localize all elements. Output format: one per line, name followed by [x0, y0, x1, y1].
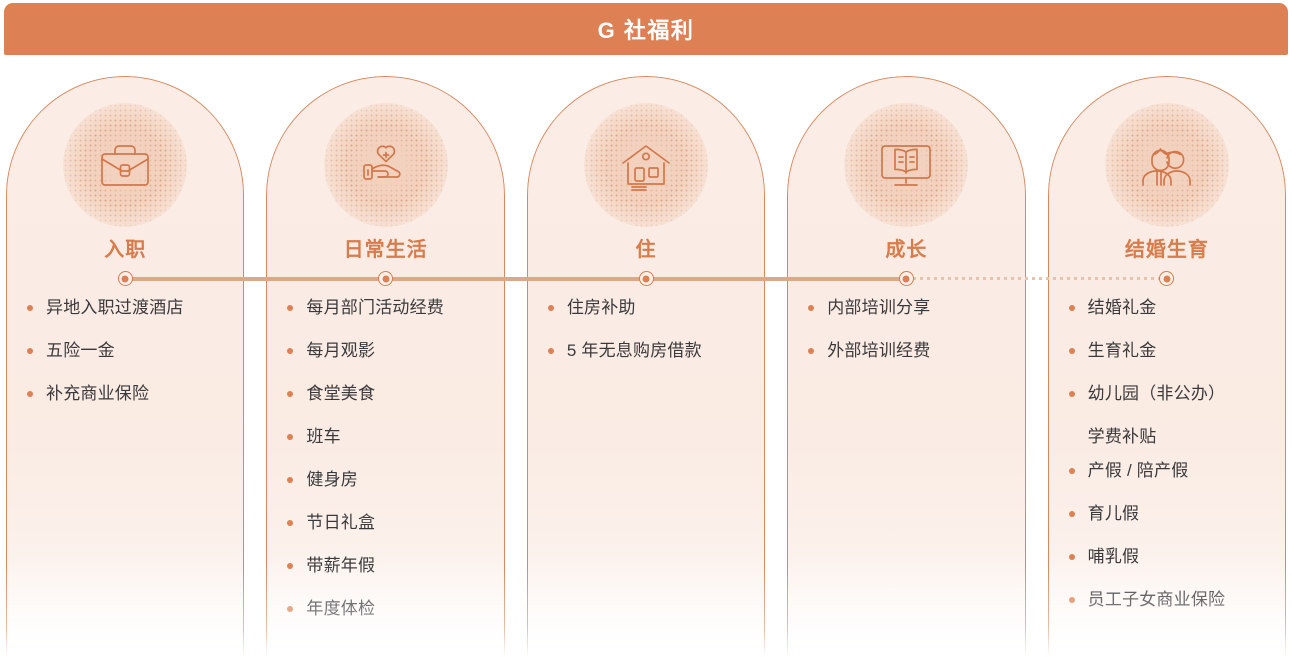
benefit-text: 每月观影 [306, 340, 489, 362]
benefit-text: 哺乳假 [1088, 546, 1271, 568]
list-item: 健身房 [283, 469, 489, 512]
benefit-text: 员工子女商业保险 [1088, 589, 1271, 611]
benefit-card-daily-life[interactable]: 日常生活每月部门活动经费每月观影食堂美食班车健身房节日礼盒带薪年假年度体检 [266, 76, 504, 657]
bullet-dot-icon [1069, 391, 1075, 397]
list-item: 哺乳假 [1065, 546, 1271, 589]
bullet-dot-icon [1069, 468, 1075, 474]
list-item: 年度体检 [283, 598, 489, 641]
list-item: 育儿假 [1065, 503, 1271, 546]
monitor-book-icon [876, 135, 936, 195]
card-title: 日常生活 [267, 233, 503, 262]
bullet-dot-icon [1069, 511, 1075, 517]
icon-medallion [1105, 103, 1229, 227]
briefcase-icon [95, 135, 155, 195]
bullet-dot-icon [1069, 305, 1075, 311]
benefit-list: 每月部门活动经费每月观影食堂美食班车健身房节日礼盒带薪年假年度体检 [267, 297, 503, 641]
list-item: 每月部门活动经费 [283, 297, 489, 340]
list-item: 节日礼盒 [283, 512, 489, 555]
list-item: 结婚礼金 [1065, 297, 1271, 340]
benefit-card-onboarding[interactable]: 入职异地入职过渡酒店五险一金补充商业保险 [6, 76, 244, 657]
couple-icon [1137, 135, 1197, 195]
list-item: 五险一金 [23, 340, 229, 383]
list-item: 带薪年假 [283, 555, 489, 598]
benefit-text: 住房补助 [567, 297, 750, 319]
bullet-dot-icon [548, 305, 554, 311]
benefit-text: 补充商业保险 [46, 383, 229, 405]
benefit-text: 幼儿园（非公办） [1088, 383, 1271, 405]
card-title: 入职 [7, 233, 243, 262]
benefit-card-growth[interactable]: 成长内部培训分享外部培训经费 [787, 76, 1025, 657]
benefit-text: 节日礼盒 [306, 512, 489, 534]
list-item: 员工子女商业保险 [1065, 589, 1271, 632]
bullet-dot-icon [287, 563, 293, 569]
bullet-dot-icon [27, 391, 33, 397]
bullet-dot-icon [287, 305, 293, 311]
bullet-dot-icon [548, 348, 554, 354]
bullet-dot-icon [1069, 554, 1075, 560]
list-item: 异地入职过渡酒店 [23, 297, 229, 340]
list-item: 学费补贴 [1065, 426, 1271, 460]
page-title: G 社福利 [598, 13, 695, 45]
list-item: 内部培训分享 [804, 297, 1010, 340]
benefit-text: 健身房 [306, 469, 489, 491]
benefit-list: 异地入职过渡酒店五险一金补充商业保险 [7, 297, 243, 426]
benefit-list: 内部培训分享外部培训经费 [788, 297, 1024, 383]
benefit-text: 内部培训分享 [827, 297, 1010, 319]
bullet-dot-icon [287, 606, 293, 612]
bullet-dot-icon [287, 520, 293, 526]
benefit-text: 育儿假 [1088, 503, 1271, 525]
benefit-text: 每月部门活动经费 [306, 297, 489, 319]
list-item: 产假 / 陪产假 [1065, 460, 1271, 503]
list-item: 班车 [283, 426, 489, 469]
benefit-list: 住房补助5 年无息购房借款 [528, 297, 764, 383]
list-item: 生育礼金 [1065, 340, 1271, 383]
bullet-dot-icon [1069, 348, 1075, 354]
bullet-dot-icon [27, 305, 33, 311]
card-title: 住 [528, 233, 764, 262]
benefit-text: 学费补贴 [1088, 426, 1271, 448]
icon-medallion [584, 103, 708, 227]
list-item: 幼儿园（非公办） [1065, 383, 1271, 426]
list-item: 每月观影 [283, 340, 489, 383]
benefit-text: 班车 [306, 426, 489, 448]
benefit-columns: 入职异地入职过渡酒店五险一金补充商业保险日常生活每月部门活动经费每月观影食堂美食… [0, 76, 1292, 657]
list-item: 补充商业保险 [23, 383, 229, 426]
bullet-dot-icon [1069, 597, 1075, 603]
list-item: 5 年无息购房借款 [544, 340, 750, 383]
hand-heart-icon [356, 135, 416, 195]
benefit-text: 异地入职过渡酒店 [46, 297, 229, 319]
infographic-root: G 社福利 入职异地入职过渡酒店五险一金补充商业保险日常生活每月部门活动经费每月… [0, 0, 1292, 657]
benefit-text: 结婚礼金 [1088, 297, 1271, 319]
card-title: 结婚生育 [1049, 233, 1285, 262]
house-icon [616, 135, 676, 195]
benefit-text: 年度体检 [306, 598, 489, 620]
benefit-text: 五险一金 [46, 340, 229, 362]
bullet-dot-icon [27, 348, 33, 354]
benefit-card-housing[interactable]: 住住房补助5 年无息购房借款 [527, 76, 765, 657]
benefit-text: 5 年无息购房借款 [567, 340, 750, 362]
bullet-dot-icon [287, 477, 293, 483]
benefit-list: 结婚礼金生育礼金幼儿园（非公办）学费补贴产假 / 陪产假育儿假哺乳假员工子女商业… [1049, 297, 1285, 632]
icon-medallion [63, 103, 187, 227]
list-item: 住房补助 [544, 297, 750, 340]
benefit-text: 食堂美食 [306, 383, 489, 405]
bullet-dot-icon [287, 391, 293, 397]
benefit-card-marriage-parenting[interactable]: 结婚生育结婚礼金生育礼金幼儿园（非公办）学费补贴产假 / 陪产假育儿假哺乳假员工… [1048, 76, 1286, 657]
bullet-dot-icon [1069, 434, 1075, 440]
bullet-dot-icon [808, 348, 814, 354]
icon-medallion [844, 103, 968, 227]
benefit-text: 外部培训经费 [827, 340, 1010, 362]
bullet-dot-icon [287, 434, 293, 440]
card-title: 成长 [788, 233, 1024, 262]
list-item: 外部培训经费 [804, 340, 1010, 383]
header-banner: G 社福利 [4, 3, 1288, 55]
benefit-text: 产假 / 陪产假 [1088, 460, 1271, 482]
bullet-dot-icon [287, 348, 293, 354]
benefit-text: 带薪年假 [306, 555, 489, 577]
icon-medallion [324, 103, 448, 227]
list-item: 食堂美食 [283, 383, 489, 426]
bullet-dot-icon [808, 305, 814, 311]
benefit-text: 生育礼金 [1088, 340, 1271, 362]
